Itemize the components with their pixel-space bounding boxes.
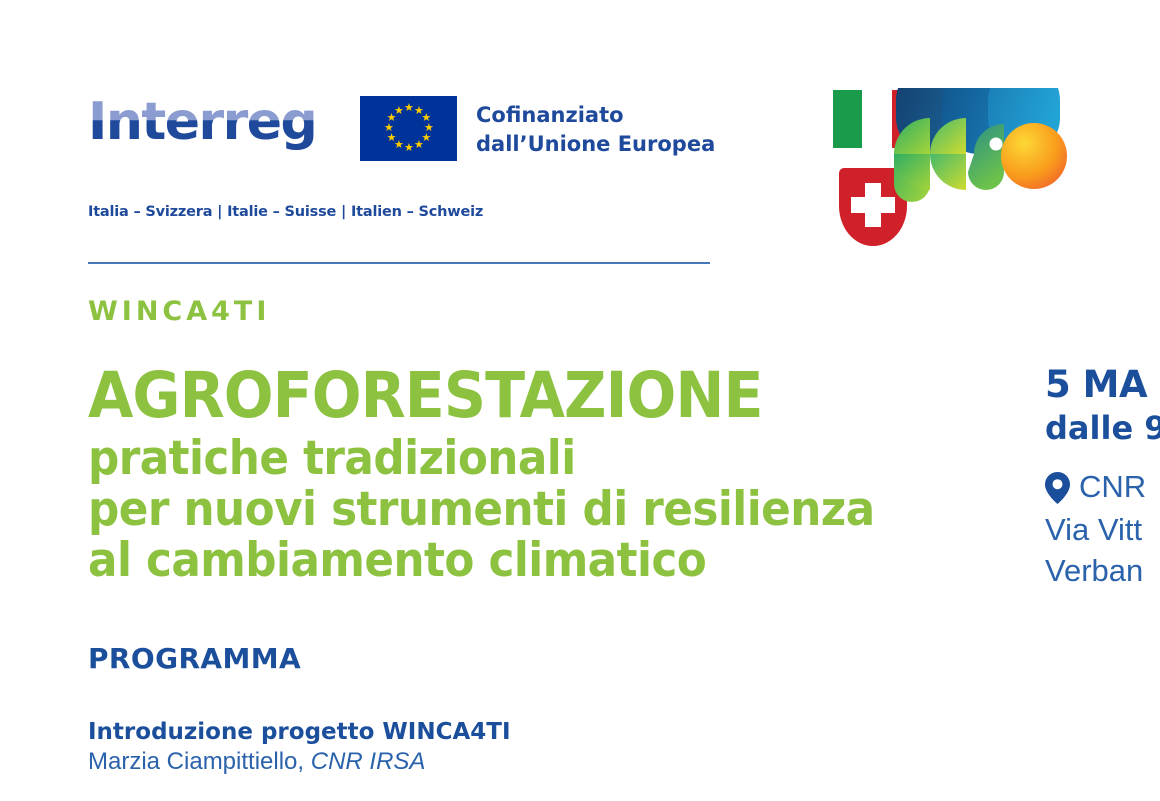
- speaker-name: Marzia Ciampittiello,: [88, 748, 304, 775]
- main-headline-block: WINCA4TI AGROFORESTAZIONE pratiche tradi…: [88, 296, 968, 586]
- attendance-note: Parte in prese iscr: [1043, 645, 1160, 741]
- event-details-block: 5 MA dalle 9 CNR Via Vitt Verban: [1045, 362, 1160, 591]
- programme-item-speaker: Marzia Ciampittiello, CNR IRSA: [88, 747, 788, 777]
- logo-bar: Interreg Interreg ★★★★★★★★★★★★ Cofinanzi…: [88, 85, 1088, 230]
- event-venue: CNR Via Vitt Verban: [1045, 466, 1160, 591]
- eu-star-icon: ★: [404, 104, 413, 113]
- eu-star-icon: ★: [414, 141, 423, 150]
- attendance-line: in prese: [1043, 677, 1160, 709]
- italy-flag-green-band: [833, 90, 862, 148]
- project-eyebrow: WINCA4TI: [88, 296, 968, 327]
- poster-canvas: Interreg Interreg ★★★★★★★★★★★★ Cofinanzi…: [0, 0, 1160, 801]
- interreg-wordmark: Interreg Interreg: [88, 93, 328, 151]
- venue-line: CNR: [1079, 466, 1146, 507]
- header-divider: [88, 262, 710, 264]
- programme-list: Introduzione progetto WINCA4TI Marzia Ci…: [88, 718, 788, 793]
- winca4ti-logo-mark: [888, 88, 1078, 220]
- programme-strapline: Italia – Svizzera | Italie – Suisse | It…: [88, 204, 483, 220]
- venue-line: Via Vitt: [1045, 509, 1160, 550]
- eu-star-icon: ★: [387, 134, 396, 143]
- venue-first-row: CNR: [1045, 466, 1160, 509]
- interreg-logo: Interreg Interreg: [88, 93, 328, 155]
- event-time: dalle 9: [1045, 407, 1160, 449]
- speaker-affiliation: CNR IRSA: [311, 748, 426, 775]
- venue-line: Verban: [1045, 550, 1160, 591]
- event-date: 5 MA: [1045, 362, 1160, 407]
- eu-funding-caption: Cofinanziato dall’Unione Europea: [476, 101, 715, 159]
- eu-stars: ★★★★★★★★★★★★: [360, 96, 457, 161]
- programme-item-title: Introduzione progetto WINCA4TI: [88, 718, 788, 747]
- page-subtitle: pratiche tradizionali per nuovi strument…: [88, 433, 906, 586]
- eu-star-icon: ★: [384, 124, 393, 133]
- list-item: Introduzione progetto WINCA4TI Marzia Ci…: [88, 718, 788, 777]
- eu-star-icon: ★: [404, 144, 413, 153]
- programme-heading: PROGRAMMA: [88, 642, 301, 675]
- attendance-line: Parte: [1043, 645, 1160, 677]
- eu-flag-icon: ★★★★★★★★★★★★: [360, 96, 457, 161]
- page-title: AGROFORESTAZIONE: [88, 365, 906, 427]
- eu-star-icon: ★: [394, 107, 403, 116]
- map-pin-icon: [1045, 472, 1070, 509]
- attendance-line: iscr: [1043, 709, 1160, 741]
- country-flags: [740, 90, 835, 225]
